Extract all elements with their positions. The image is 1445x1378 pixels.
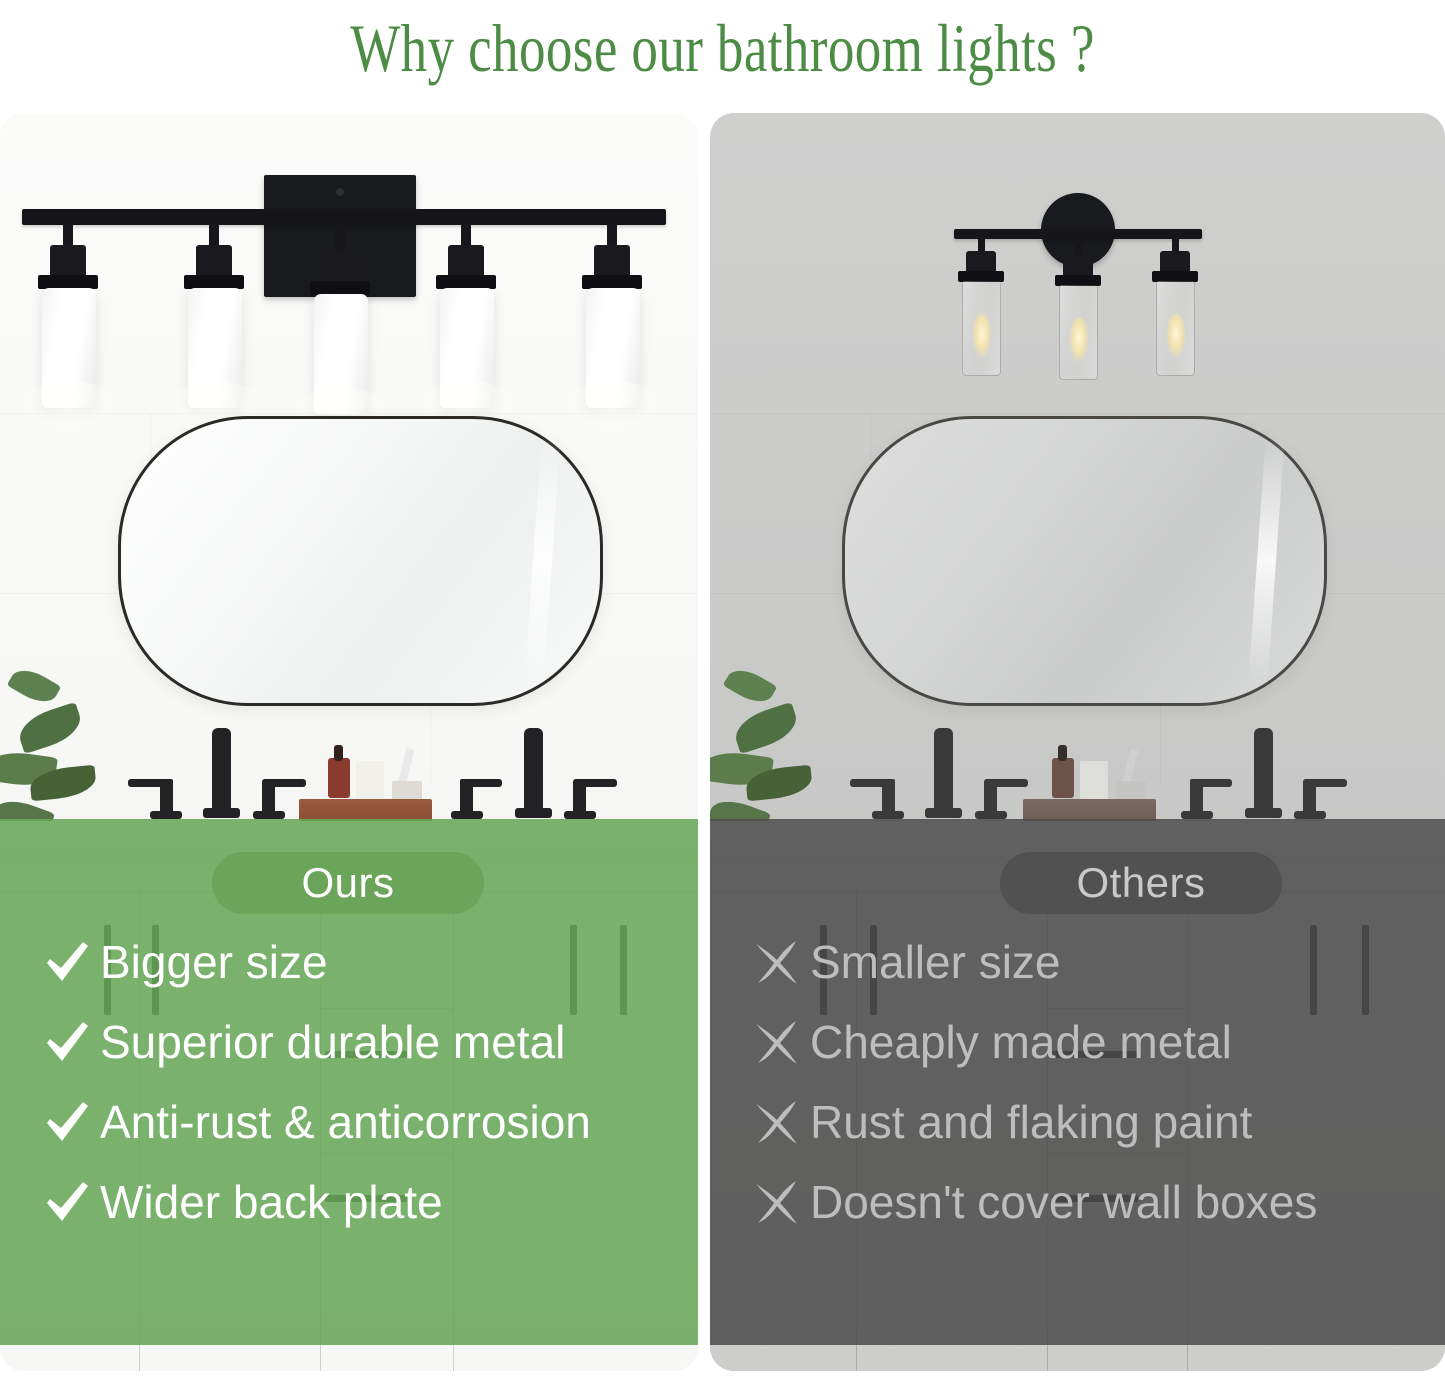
check-icon <box>34 940 100 984</box>
fixture-bar <box>22 209 666 225</box>
panel-ours: Bigger size Superior durable metal <box>0 113 698 1371</box>
fixture-socket <box>448 245 484 279</box>
edison-filament <box>972 313 992 359</box>
cosmetic-jar <box>356 761 384 799</box>
feature-label: Superior durable metal <box>100 1019 565 1065</box>
dropper-cap <box>334 745 343 761</box>
feature-item: Bigger size <box>0 922 698 1002</box>
lamp-shade-clear <box>1156 281 1195 376</box>
lamp-shade-clear <box>1059 285 1098 380</box>
cross-icon <box>744 1179 810 1225</box>
feature-label: Bigger size <box>100 939 328 985</box>
fixture-socket <box>196 245 232 279</box>
panel-others: Smaller size Cheaply made metal <box>710 113 1445 1371</box>
edison-filament <box>1069 317 1089 363</box>
cross-icon <box>744 1019 810 1065</box>
fixture-collar <box>582 275 642 289</box>
check-icon <box>34 1020 100 1064</box>
dropper-bottle <box>328 758 350 798</box>
check-icon <box>34 1100 100 1144</box>
light-glow <box>18 381 120 437</box>
feature-label: Anti-rust & anticorrosion <box>100 1099 591 1145</box>
dropper-bottle <box>1052 758 1074 798</box>
cross-icon <box>744 1099 810 1145</box>
wall-seam <box>710 413 1445 414</box>
fixture-socket <box>322 251 358 285</box>
plant-leaf <box>730 702 801 754</box>
fixture-collar <box>436 275 496 289</box>
feature-label: Smaller size <box>810 939 1061 985</box>
feature-item: Rust and flaking paint <box>710 1082 1445 1162</box>
badge-others: Others <box>1000 852 1282 914</box>
badge-ours: Ours <box>212 852 484 914</box>
bathroom-mirror <box>842 416 1327 706</box>
light-glow <box>562 381 664 437</box>
plant-leaf <box>7 663 62 710</box>
plant-leaf <box>14 702 85 754</box>
plant-leaf <box>723 663 778 710</box>
fixture-socket <box>594 245 630 279</box>
dropper-cap <box>1058 745 1067 761</box>
feature-label: Doesn't cover wall boxes <box>810 1179 1317 1225</box>
mirror-reflection <box>524 436 561 686</box>
cross-icon <box>744 939 810 985</box>
feature-label: Rust and flaking paint <box>810 1099 1252 1145</box>
mirror-reflection <box>1248 436 1285 686</box>
feature-label: Cheaply made metal <box>810 1019 1232 1065</box>
backplate-screw <box>336 188 344 196</box>
page-title: Why choose our bathroom lights ? <box>159 0 1286 95</box>
feature-item: Superior durable metal <box>0 1002 698 1082</box>
fixture-collar <box>184 275 244 289</box>
feature-item: Smaller size <box>710 922 1445 1002</box>
feature-item: Anti-rust & anticorrosion <box>0 1082 698 1162</box>
cosmetic-jar <box>1080 761 1108 799</box>
fixture-socket <box>50 245 86 279</box>
bathroom-mirror <box>118 416 603 706</box>
feature-label: Wider back plate <box>100 1179 443 1225</box>
fixture-collar <box>310 281 370 295</box>
fixture-collar <box>38 275 98 289</box>
feature-item: Doesn't cover wall boxes <box>710 1162 1445 1242</box>
lamp-shade-clear <box>962 281 1001 376</box>
edison-filament <box>1166 313 1186 359</box>
comparison-panels: Bigger size Superior durable metal <box>0 113 1445 1371</box>
check-icon <box>34 1180 100 1224</box>
feature-item: Cheaply made metal <box>710 1002 1445 1082</box>
feature-item: Wider back plate <box>0 1162 698 1242</box>
